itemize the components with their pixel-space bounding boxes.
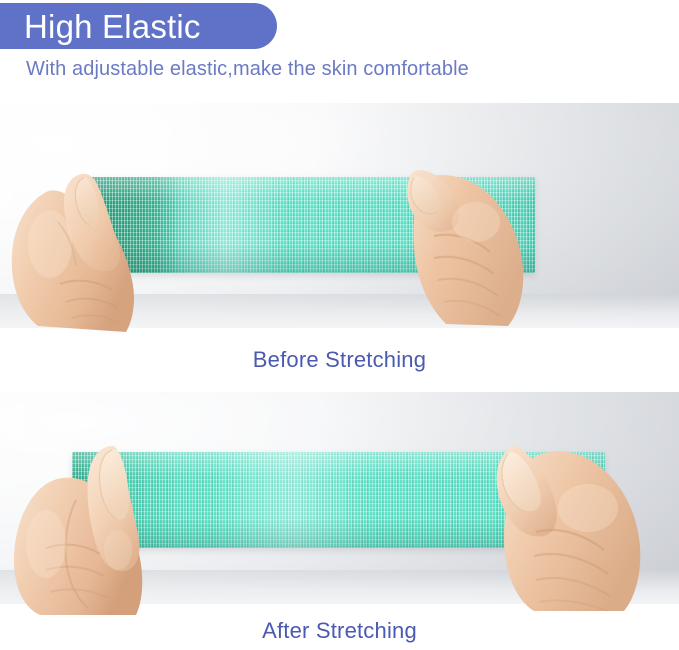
right-hand-before [404, 166, 554, 328]
caption-after: After Stretching [0, 618, 679, 644]
subtitle-text: With adjustable elastic,make the skin co… [26, 58, 469, 81]
right-hand-after [492, 436, 667, 611]
header: High Elastic With adjustable elastic,mak… [0, 0, 679, 100]
page-title: High Elastic [0, 10, 201, 43]
caption-before: Before Stretching [0, 347, 679, 373]
title-banner: High Elastic [0, 3, 277, 49]
left-hand-after [6, 440, 181, 615]
left-hand-before [8, 168, 158, 333]
product-feature-image: High Elastic With adjustable elastic,mak… [0, 0, 679, 650]
